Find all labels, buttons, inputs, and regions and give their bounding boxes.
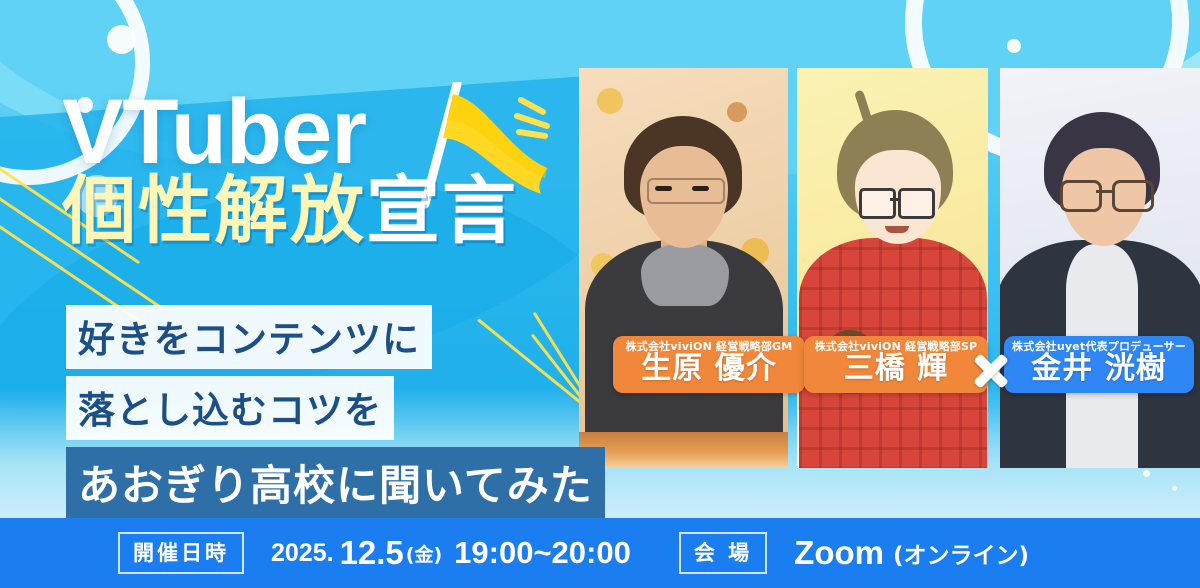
date-year: 2025. <box>271 539 334 568</box>
photo3-lens-right <box>1112 180 1154 212</box>
speaker-2-name: 三橋 輝 <box>810 353 982 385</box>
photo2-glasses-right-icon <box>898 188 935 219</box>
photo3-lens-left <box>1060 180 1102 212</box>
photo1-deco-1 <box>597 88 623 114</box>
photo2-glasses-left-icon <box>859 188 896 219</box>
date-label-box: 開催日時 <box>118 532 244 574</box>
headline-block: VTuber 個性解放宣言 <box>62 88 518 248</box>
speaker-photo-3 <box>1000 68 1200 468</box>
photo2-glasses-bridge <box>890 198 900 201</box>
venue-note: (オンライン) <box>893 536 1029 570</box>
speaker-photo-2 <box>797 68 988 468</box>
cross-icon <box>968 348 1012 392</box>
photo1-deco-2 <box>727 102 747 122</box>
subcopy-line-2: 落とし込むコツを <box>66 376 394 440</box>
speaker-1-name: 生原 優介 <box>619 353 799 385</box>
footer-bar: 開催日時 2025. 12.5 (金) 19:00~20:00 会 場 Zoom… <box>0 518 1200 588</box>
venue-name: Zoom <box>794 534 884 572</box>
speaker-photo-1 <box>579 68 788 468</box>
speaker-badge-3: 株式会社uyet代表プロデューサー 金井 洸樹 <box>1004 336 1194 393</box>
speaker-3-name: 金井 洸樹 <box>1010 353 1188 385</box>
venue-label-box: 会 場 <box>679 532 767 574</box>
date-day: 12.5 <box>340 534 404 572</box>
photo3-lens-bridge <box>1096 190 1112 193</box>
date-time: 19:00~20:00 <box>454 535 631 571</box>
headline-japanese: 個性解放宣言 <box>62 174 518 248</box>
photo1-eye-right <box>692 186 709 191</box>
headline-jp-part2: 宣言 <box>366 168 518 254</box>
headline-vtuber: VTuber <box>62 88 518 176</box>
photo1-lower-gradient <box>579 432 788 468</box>
headline-jp-part1: 個性解放 <box>62 168 366 254</box>
date-dayofweek: (金) <box>406 540 442 567</box>
speaker-badge-1: 株式会社viviON 経営戦略部GM 生原 優介 <box>613 336 805 393</box>
event-banner: VTuber 個性解放宣言 好きをコンテンツに 落とし込むコツを あおぎり高校に… <box>0 0 1200 588</box>
photo2-mouth <box>885 226 909 233</box>
photo1-glasses-icon <box>647 178 725 204</box>
speaker-badge-2: 株式会社viviON 経営戦略部SP 三橋 輝 <box>804 336 988 393</box>
subcopy-line-3: あおぎり高校に聞いてみた <box>66 447 605 521</box>
photo3-glasses-icon <box>1060 180 1148 206</box>
subcopy-line-1: 好きをコンテンツに <box>66 305 432 369</box>
photo1-turtleneck <box>641 244 729 306</box>
photo1-eye-left <box>655 186 672 191</box>
subcopy-block: 好きをコンテンツに 落とし込むコツを あおぎり高校に聞いてみた <box>66 305 605 528</box>
